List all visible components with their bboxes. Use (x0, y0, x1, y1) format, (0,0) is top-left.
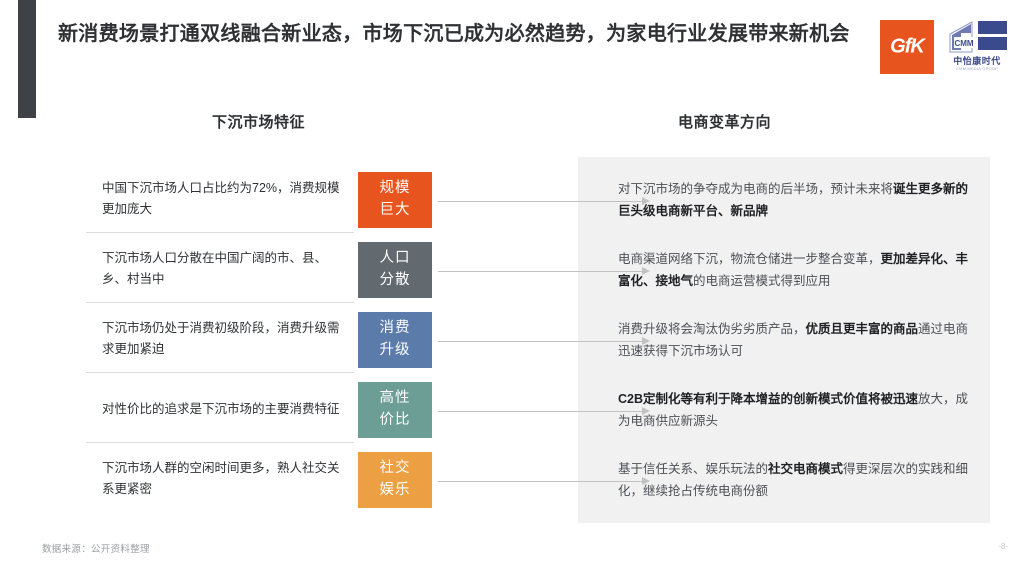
feature-text: 对性价比的追求是下沉市场的主要消费特征 (86, 399, 350, 424)
slide-header: 新消费场景打通双线融合新业态，市场下沉已成为必然趋势，为家电行业发展带来新机会 … (0, 0, 1024, 92)
badge-line-1: 消费 (380, 318, 411, 340)
badge-line-2: 价比 (380, 410, 411, 432)
column-heading-features: 下沉市场特征 (212, 111, 305, 132)
cmm-logo-icon: CMM 中怡康时代 CMM MEDIA GROUP (944, 20, 1010, 78)
page-title: 新消费场景打通双线融合新业态，市场下沉已成为必然趋势，为家电行业发展带来新机会 (58, 20, 858, 49)
gfk-logo-icon: GfK (880, 20, 934, 74)
badge-line-2: 娱乐 (380, 480, 411, 502)
feature-text: 下沉市场仍处于消费初级阶段，消费升级需求更加紧迫 (86, 318, 354, 363)
direction-cell: 消费升级将会淘汰伪劣劣质产品，优质且更丰富的商品通过电商迅速获得下沉市场认可 (600, 304, 990, 378)
badge-line-2: 巨大 (380, 200, 411, 222)
feature-badge[interactable]: 消费 升级 (358, 312, 432, 368)
badge-line-2: 升级 (380, 340, 411, 362)
feature-cell: 下沉市场人群的空闲时间更多，熟人社交关系更紧密 (86, 450, 354, 512)
feature-badge[interactable]: 人口 分散 (358, 242, 432, 298)
badge-line-1: 人口 (380, 248, 411, 270)
cmm-logo-subtitle: CMM MEDIA GROUP (944, 66, 1010, 71)
direction-text: C2B定制化等有利于降本增益的创新模式价值将被迅速放大，成为电商供应新源头 (600, 389, 990, 433)
feature-cell: 下沉市场仍处于消费初级阶段，消费升级需求更加紧迫 (86, 310, 354, 373)
column-heading-directions: 电商变革方向 (678, 111, 771, 132)
badge-line-1: 高性 (380, 388, 411, 410)
direction-text: 基于信任关系、娱乐玩法的社交电商模式得更深层次的实践和细化，继续抢占传统电商份额 (600, 459, 990, 503)
direction-text: 电商渠道网络下沉，物流仓储进一步整合变革，更加差异化、丰富化、接地气的电商运营模… (600, 249, 990, 293)
feature-badge[interactable]: 社交 娱乐 (358, 452, 432, 508)
data-source-note: 数据来源：公开资料整理 (42, 541, 150, 555)
direction-text: 消费升级将会淘汰伪劣劣质产品，优质且更丰富的商品通过电商迅速获得下沉市场认可 (600, 319, 990, 363)
feature-cell: 下沉市场人口分散在中国广阔的市、县、乡、村当中 (86, 240, 354, 303)
badge-line-1: 规模 (380, 178, 411, 200)
comparison-row: 下沉市场仍处于消费初级阶段，消费升级需求更加紧迫 消费 升级 消费升级将会淘汰伪… (86, 310, 990, 372)
cmm-logo-mark: CMM (948, 20, 1008, 54)
comparison-row: 对性价比的追求是下沉市场的主要消费特征 高性 价比 C2B定制化等有利于降本增益… (86, 380, 990, 442)
comparison-row: 下沉市场人口分散在中国广阔的市、县、乡、村当中 人口 分散 电商渠道网络下沉，物… (86, 240, 990, 302)
svg-text:CMM: CMM (954, 39, 973, 48)
comparison-row: 中国下沉市场人口占比约为72%，消费规模更加庞大 规模 巨大 对下沉市场的争夺成… (86, 170, 990, 232)
feature-cell: 对性价比的追求是下沉市场的主要消费特征 (86, 380, 354, 443)
header-accent-bar (18, 0, 36, 118)
feature-text: 下沉市场人群的空闲时间更多，熟人社交关系更紧密 (86, 458, 354, 503)
comparison-row: 下沉市场人群的空闲时间更多，熟人社交关系更紧密 社交 娱乐 基于信任关系、娱乐玩… (86, 450, 990, 512)
direction-cell: 电商渠道网络下沉，物流仓储进一步整合变革，更加差异化、丰富化、接地气的电商运营模… (600, 234, 990, 308)
gfk-logo-text: GfK (880, 36, 934, 59)
page-number: -8- (998, 542, 1008, 551)
badge-line-1: 社交 (380, 458, 411, 480)
feature-badge[interactable]: 规模 巨大 (358, 172, 432, 228)
feature-text: 下沉市场人口分散在中国广阔的市、县、乡、村当中 (86, 248, 354, 293)
feature-cell: 中国下沉市场人口占比约为72%，消费规模更加庞大 (86, 170, 354, 233)
feature-badge[interactable]: 高性 价比 (358, 382, 432, 438)
direction-cell: C2B定制化等有利于降本增益的创新模式价值将被迅速放大，成为电商供应新源头 (600, 374, 990, 448)
direction-cell: 基于信任关系、娱乐玩法的社交电商模式得更深层次的实践和细化，继续抢占传统电商份额 (600, 444, 990, 518)
direction-cell: 对下沉市场的争夺成为电商的后半场，预计未来将诞生更多新的巨头级电商新平台、新品牌 (600, 164, 990, 238)
direction-text: 对下沉市场的争夺成为电商的后半场，预计未来将诞生更多新的巨头级电商新平台、新品牌 (600, 179, 990, 223)
logo-group: GfK CMM 中怡康时代 CMM MEDIA GROUP (880, 20, 1010, 78)
feature-text: 中国下沉市场人口占比约为72%，消费规模更加庞大 (86, 178, 354, 223)
badge-line-2: 分散 (380, 270, 411, 292)
